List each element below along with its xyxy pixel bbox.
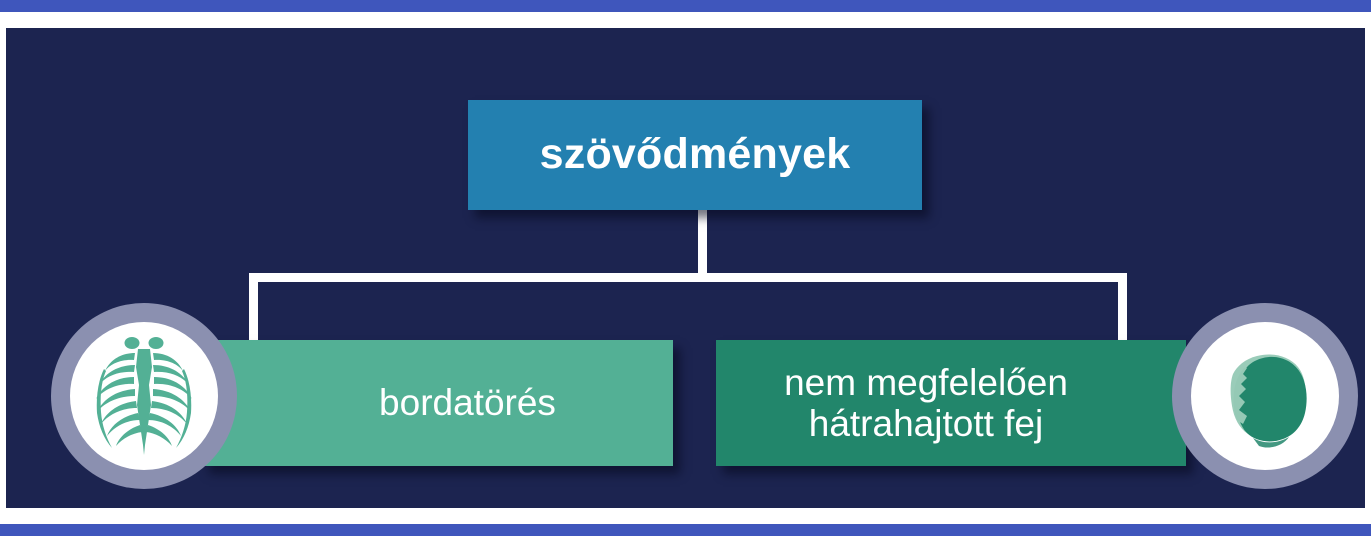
connector-drop-right [1118,273,1127,343]
tilted-head-icon [1203,334,1327,458]
slide-canvas: szövődmények bordatörés nem megfelelően … [0,0,1371,536]
connector-stem [698,208,707,279]
leaf-node-hatrahajtott-fej[interactable]: nem megfelelően hátrahajtott fej [716,340,1186,466]
bottom-accent-bar [0,524,1371,536]
connector-horizontal [249,273,1127,282]
icon-disc-left [70,322,218,470]
top-accent-bar [0,0,1371,12]
leaf-node-label-left: bordatörés [319,382,556,423]
title-node-label: szövődmények [540,131,851,178]
leaf-node-label-right: nem megfelelően hátrahajtott fej [784,362,1118,445]
diagram-panel: szövődmények bordatörés nem megfelelően … [6,28,1365,508]
icon-disc-right [1191,322,1339,470]
icon-badge-right [1172,303,1358,489]
icon-badge-left [51,303,237,489]
leaf-node-bordatores[interactable]: bordatörés [202,340,673,466]
ribcage-icon [88,333,200,459]
connector-drop-left [249,273,258,343]
title-node[interactable]: szövődmények [468,100,922,210]
